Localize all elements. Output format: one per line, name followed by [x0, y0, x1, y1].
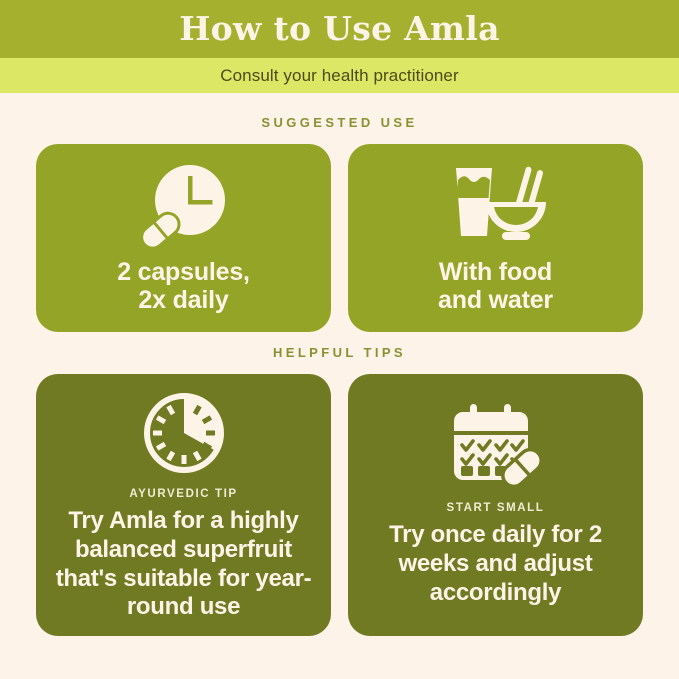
suggested-use-card-grid: 2 capsules, 2x daily — [0, 144, 679, 332]
card-food-and-water: With food and water — [348, 144, 643, 332]
card-micro-label: START SMALL — [447, 502, 545, 514]
glass-bowl-chopsticks-icon — [442, 162, 550, 248]
subtitle-band: Consult your health practitioner — [0, 58, 679, 93]
header-band: How to Use Amla — [0, 0, 679, 58]
card-title-line1: 2 capsules, — [117, 258, 250, 287]
clock-capsules-icon — [134, 162, 234, 248]
card-title: With food and water — [438, 258, 553, 315]
section-label-helpful-tips: HELPFUL TIPS — [0, 345, 679, 360]
clock-outline-icon — [139, 388, 229, 478]
infographic-page: How to Use Amla Consult your health prac… — [0, 0, 679, 679]
card-capsules-daily: 2 capsules, 2x daily — [36, 144, 331, 332]
card-title-line2: and water — [438, 286, 553, 315]
card-micro-label: AYURVEDIC TIP — [129, 488, 237, 500]
card-ayurvedic-tip: AYURVEDIC TIP Try Amla for a highly bala… — [36, 374, 331, 636]
card-title-line2: 2x daily — [117, 286, 250, 315]
page-title: How to Use Amla — [179, 12, 500, 45]
helpful-tips-card-grid: AYURVEDIC TIP Try Amla for a highly bala… — [0, 374, 679, 636]
card-body-text: Try once daily for 2 weeks and adjust ac… — [362, 521, 629, 607]
calendar-checks-capsule-icon — [448, 402, 544, 492]
card-start-small: START SMALL Try once daily for 2 weeks a… — [348, 374, 643, 636]
page-subtitle: Consult your health practitioner — [220, 66, 459, 86]
card-title: 2 capsules, 2x daily — [117, 258, 250, 315]
card-body-text: Try Amla for a highly balanced superfrui… — [50, 507, 317, 622]
section-label-suggested-use: SUGGESTED USE — [0, 115, 679, 130]
card-title-line1: With food — [438, 258, 553, 287]
